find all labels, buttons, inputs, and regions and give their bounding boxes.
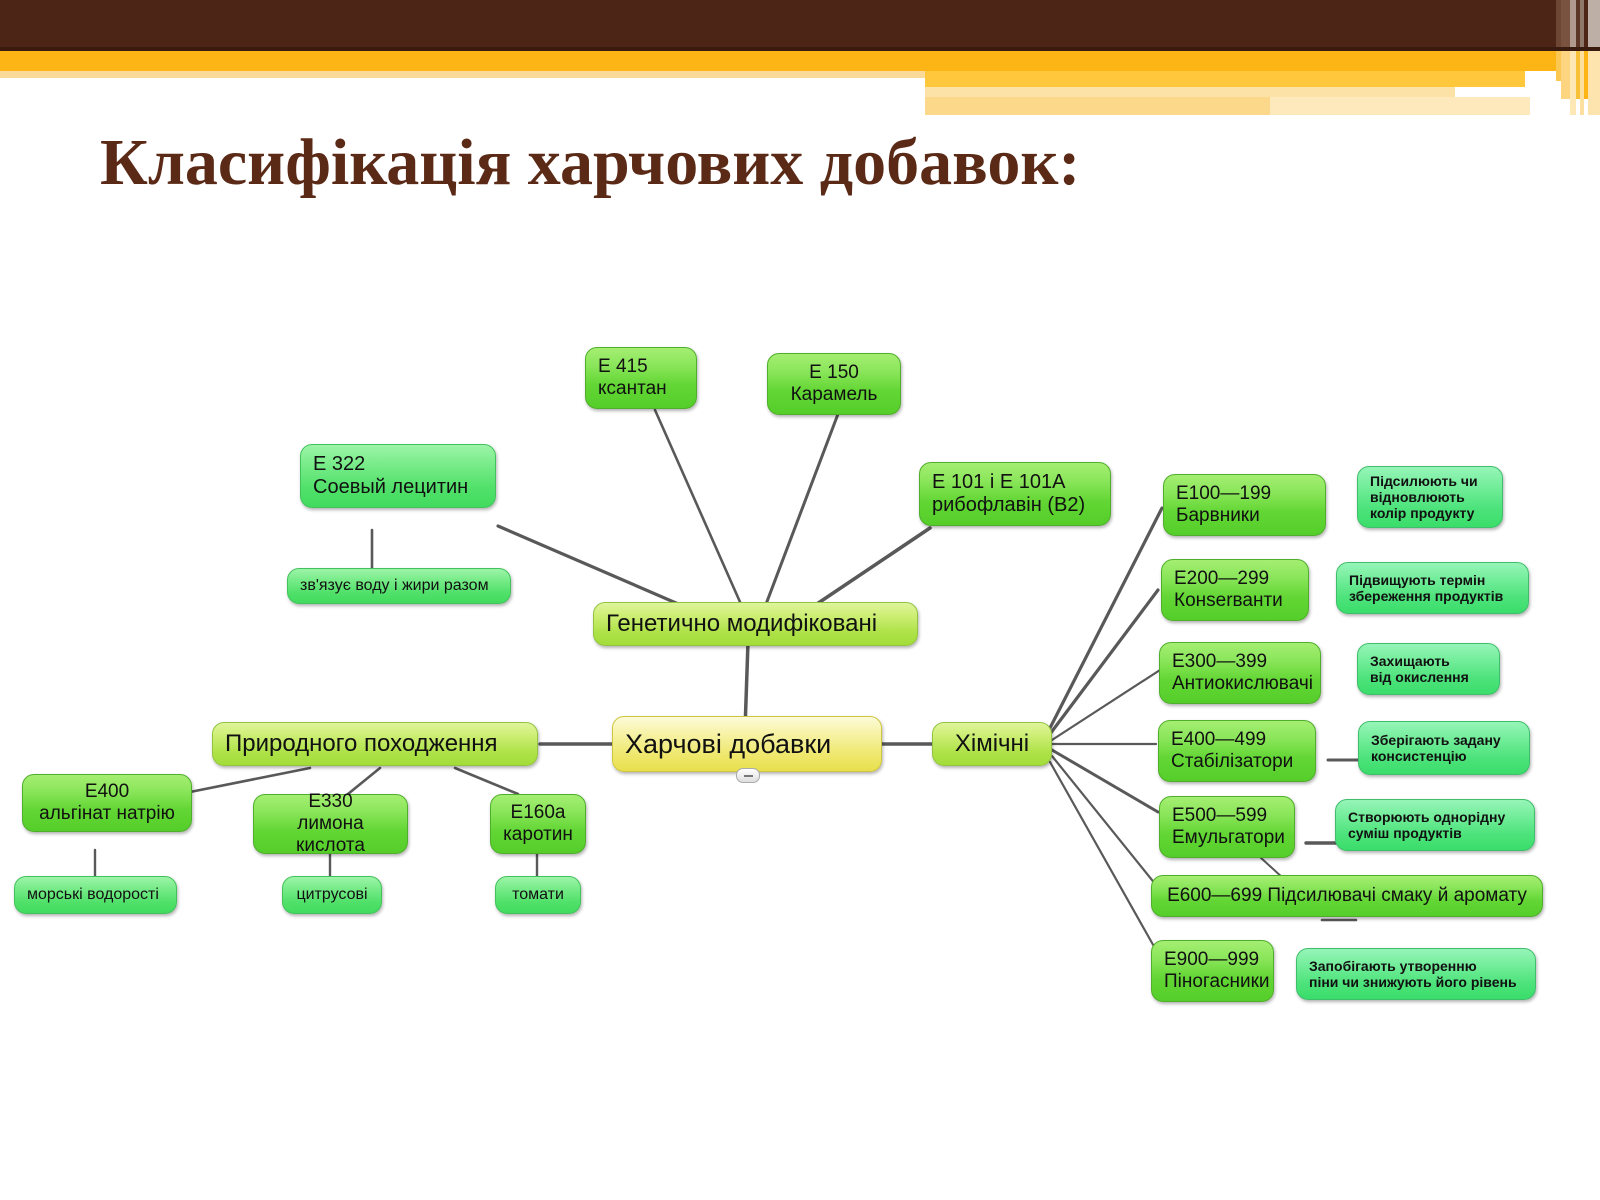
node-e322-label: E 322 Соевый лецитин <box>313 453 483 499</box>
node-natural-label: Природного походження <box>225 730 525 758</box>
node-e101[interactable]: E 101 і E 101A рибофлавін (B2) <box>919 462 1111 526</box>
node-e900-label: E900—999 Піногасники <box>1164 949 1261 993</box>
node-e400[interactable]: E400 альгінат натрію <box>22 774 192 832</box>
header-tan-band-c <box>925 97 1270 115</box>
node-e160a-label: E160a каротин <box>503 802 573 846</box>
center-collapse-button[interactable] <box>736 768 760 783</box>
node-citrus-label: цитрусові <box>295 886 369 904</box>
node-e100-label: E100—199 Барвники <box>1176 483 1313 527</box>
node-e200-note-label: Підвищують термін збереження продуктів <box>1349 572 1516 604</box>
header-decoration <box>0 0 1600 120</box>
node-e322-note[interactable]: зв'язує воду і жири разом <box>287 568 511 604</box>
edge-chem-e300 <box>1052 670 1160 740</box>
node-seaweed[interactable]: морські водорості <box>14 876 177 914</box>
header-orange-band <box>0 51 1600 71</box>
node-e322-note-label: зв'язує воду і жири разом <box>300 577 498 595</box>
node-e330[interactable]: E330 лимона кислота <box>253 794 408 854</box>
node-e300-note-label: Захищають від окислення <box>1370 653 1487 685</box>
node-chemical[interactable]: Хімічні <box>932 722 1052 766</box>
node-e101-label: E 101 і E 101A рибофлавін (B2) <box>932 471 1098 517</box>
page-title: Класифікація харчових добавок: <box>100 128 1440 197</box>
node-e150-label: E 150 Карамель <box>780 362 888 406</box>
header-tan-band-b <box>925 87 1455 97</box>
node-citrus[interactable]: цитрусові <box>282 876 382 914</box>
edge-gm-e415 <box>655 410 748 620</box>
edge-chem-e600 <box>1052 756 1160 890</box>
edge-chem-e100 <box>1050 508 1162 728</box>
node-e500-note[interactable]: Створюють однорідну суміш продуктів <box>1335 799 1535 851</box>
node-e500[interactable]: E500—599 Емульгатори <box>1159 796 1295 858</box>
node-genetically-modified[interactable]: Генетично модифіковані <box>593 602 918 646</box>
edge-stripe-9 <box>1561 51 1570 99</box>
node-e400-range[interactable]: E400—499 Стабілізатори <box>1158 720 1316 782</box>
node-e500-label: E500—599 Емульгатори <box>1172 805 1282 849</box>
node-e100-note[interactable]: Підсилюють чи відновлюють колір продукту <box>1357 466 1503 528</box>
node-e200[interactable]: E200—299 Конserванти <box>1161 559 1309 621</box>
node-seaweed-label: морські водорості <box>27 886 164 904</box>
node-e400r-label: E400—499 Стабілізатори <box>1171 729 1303 773</box>
header-tan-band-a <box>925 71 1525 87</box>
header-tan-band-d <box>1270 97 1530 115</box>
node-e900-note-label: Запобігають утворенню піни чи знижують й… <box>1309 958 1523 990</box>
edge-stripe-14 <box>1588 51 1600 115</box>
node-e300[interactable]: E300—399 Антиокислювачі <box>1159 642 1321 704</box>
edge-stripe-7 <box>1588 0 1600 47</box>
node-e322[interactable]: E 322 Соевый лецитин <box>300 444 496 508</box>
edge-natural-e160a <box>455 768 518 794</box>
node-natural-origin[interactable]: Природного походження <box>212 722 538 766</box>
header-pale-strip <box>0 71 925 78</box>
node-e900-note[interactable]: Запобігають утворенню піни чи знижують й… <box>1296 948 1536 1000</box>
mindmap-canvas: Харчові добавки Генетично модифіковані E… <box>0 250 1600 1070</box>
node-center[interactable]: Харчові добавки <box>612 716 882 772</box>
node-e500-note-label: Створюють однорідну суміш продуктів <box>1348 809 1522 841</box>
node-e415[interactable]: E 415 ксантан <box>585 347 697 409</box>
node-e160a[interactable]: E160a каротин <box>490 794 586 854</box>
node-e900[interactable]: E900—999 Піногасники <box>1151 940 1274 1002</box>
node-e600-label: E600—699 Підсилювачі смаку й аромату <box>1164 885 1530 907</box>
node-e600[interactable]: E600—699 Підсилювачі смаку й аромату <box>1151 875 1543 917</box>
node-e400-note[interactable]: Зберігають задану консистенцію <box>1358 721 1530 775</box>
node-center-label: Харчові добавки <box>625 729 869 760</box>
node-chemical-label: Хімічні <box>945 730 1039 758</box>
node-e415-label: E 415 ксантан <box>598 356 684 400</box>
node-e300-label: E300—399 Антиокислювачі <box>1172 651 1308 695</box>
node-tomato[interactable]: томати <box>495 876 581 914</box>
node-e100-note-label: Підсилюють чи відновлюють колір продукту <box>1370 473 1490 521</box>
node-e330-label: E330 лимона кислота <box>266 791 395 857</box>
edge-chem-e200 <box>1050 590 1158 734</box>
node-e200-label: E200—299 Конserванти <box>1174 568 1296 612</box>
edge-chem-e500 <box>1052 750 1158 812</box>
node-gm-label: Генетично модифіковані <box>606 610 905 638</box>
node-e200-note[interactable]: Підвищують термін збереження продуктів <box>1336 562 1529 614</box>
node-e150[interactable]: E 150 Карамель <box>767 353 901 415</box>
edge-chem-e900 <box>1050 762 1156 950</box>
node-e300-note[interactable]: Захищають від окислення <box>1357 643 1500 695</box>
node-tomato-label: томати <box>508 886 568 904</box>
header-white-gap <box>0 78 925 87</box>
edge-gm-e150 <box>760 414 838 620</box>
node-e400-label: E400 альгінат натрію <box>35 781 179 825</box>
edge-stripe-2 <box>1561 0 1570 47</box>
node-e100[interactable]: E100—199 Барвники <box>1163 474 1326 536</box>
header-brown-band <box>0 0 1600 47</box>
node-e400-note-label: Зберігають задану консистенцію <box>1371 732 1517 764</box>
